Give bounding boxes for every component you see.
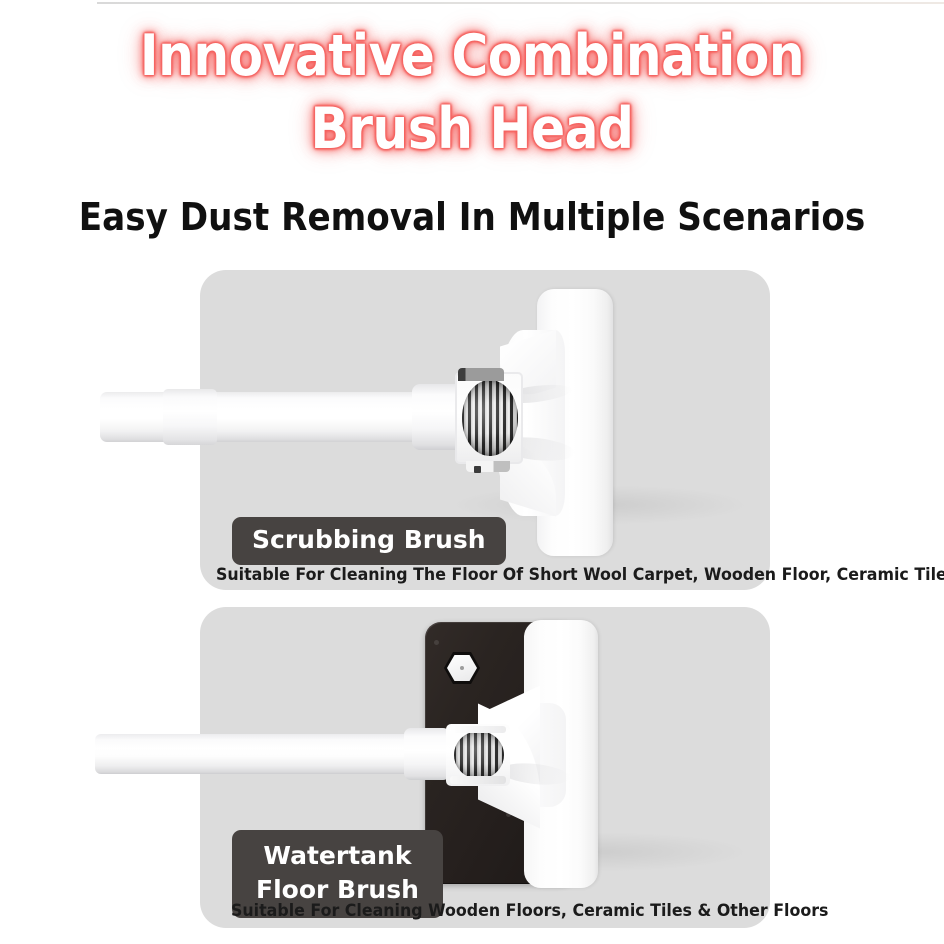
badge-scrubbing-brush: Scrubbing Brush	[232, 517, 506, 565]
coupler-clip-top	[458, 368, 504, 381]
vacuum-wand-taper	[404, 728, 450, 780]
vacuum-wand-tube	[95, 734, 425, 774]
badge-scrubbing-brush-label: Scrubbing Brush	[252, 525, 486, 554]
page-title-line-1: Innovative Combination	[57, 20, 888, 93]
watertank-hex-cap-icon	[444, 652, 480, 684]
ribbed-hose-shading	[454, 731, 504, 779]
coupler-clip-bottom	[466, 461, 510, 472]
badge-watertank-label-line-1: Watertank	[256, 839, 419, 873]
coupler-ring-top	[450, 726, 506, 733]
ribbed-hose-shading	[462, 380, 518, 456]
coupler-release-button	[474, 466, 481, 473]
hex-cap-center-dot	[460, 666, 464, 670]
page-title: Innovative Combination Brush Head	[57, 20, 888, 166]
coupler-ring-bottom	[450, 776, 506, 784]
watertank-screw	[434, 640, 439, 645]
vacuum-wand-tube	[100, 392, 455, 442]
page-subtitle: Easy Dust Removal In Multiple Scenarios	[47, 194, 897, 240]
caption-watertank-floor-brush: Suitable For Cleaning Wooden Floors, Cer…	[231, 901, 828, 921]
caption-scrubbing-brush: Suitable For Cleaning The Floor Of Short…	[216, 565, 944, 585]
top-divider-rule	[97, 2, 944, 4]
vacuum-wand-collar	[163, 389, 217, 445]
page-title-line-2: Brush Head	[57, 93, 888, 166]
